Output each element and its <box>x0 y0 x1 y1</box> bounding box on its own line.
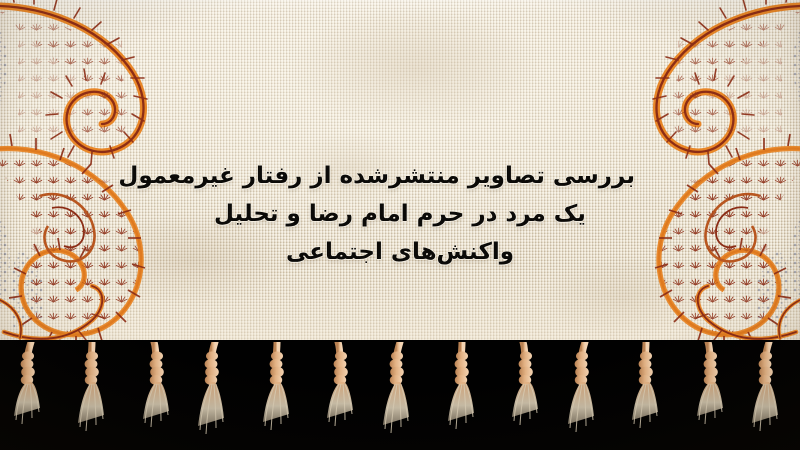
tassel <box>317 342 359 434</box>
tassel <box>441 342 483 434</box>
tassel <box>748 342 790 434</box>
tassel <box>194 342 236 434</box>
tassel <box>10 342 52 434</box>
tassel <box>625 342 667 434</box>
tassel <box>256 342 298 434</box>
tassel <box>133 342 175 434</box>
headline-block: بررسی تصاویر منتشرشده از رفتار غیرمعمول … <box>165 157 635 271</box>
tassel <box>71 342 113 434</box>
tassel <box>379 342 421 434</box>
tassel-fringe <box>0 340 800 450</box>
headline-line-3: واکنش‌های اجتماعی <box>165 233 635 271</box>
headline-line-2: یک مرد در حرم امام رضا و تحلیل <box>165 195 635 233</box>
tassel <box>502 342 544 434</box>
headline-line-1: بررسی تصاویر منتشرشده از رفتار غیرمعمول <box>165 157 635 195</box>
tassel <box>564 342 606 434</box>
textile-headline-card: بررسی تصاویر منتشرشده از رفتار غیرمعمول … <box>0 0 800 450</box>
tassel <box>687 342 729 434</box>
